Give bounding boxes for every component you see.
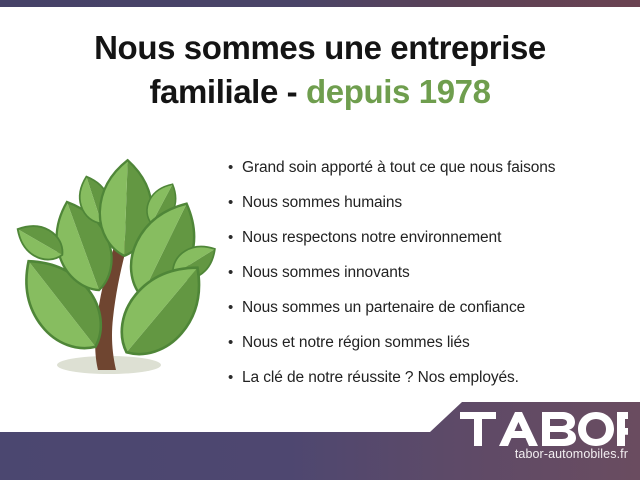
brand-website-label[interactable]: tabor-automobiles.fr — [460, 447, 628, 461]
bullet-marker-icon: • — [228, 220, 242, 255]
tree-illustration — [12, 152, 222, 388]
list-item: • Nous sommes humains — [228, 185, 628, 220]
value-list: • Grand soin apporté à tout ce que nous … — [228, 150, 628, 395]
list-item-label: Grand soin apporté à tout ce que nous fa… — [242, 150, 555, 185]
brand-logo[interactable]: tabor-automobiles.fr — [460, 412, 628, 461]
top-accent-bar — [0, 0, 640, 7]
brand-wordmark-tabor — [460, 412, 628, 446]
list-item: • La clé de notre réussite ? Nos employé… — [228, 360, 628, 395]
page-title-accent: depuis 1978 — [306, 73, 491, 110]
page-title-line1: Nous sommes une entreprise — [94, 29, 546, 66]
bullet-marker-icon: • — [228, 325, 242, 360]
list-item-label: La clé de notre réussite ? Nos employés. — [242, 360, 519, 395]
bullet-marker-icon: • — [228, 255, 242, 290]
list-item: • Nous sommes innovants — [228, 255, 628, 290]
page-title-line2-main: familiale - — [149, 73, 306, 110]
list-item-label: Nous sommes humains — [242, 185, 402, 220]
list-item-label: Nous respectons notre environnement — [242, 220, 501, 255]
list-item-label: Nous sommes un partenaire de confiance — [242, 290, 525, 325]
list-item: • Nous sommes un partenaire de confiance — [228, 290, 628, 325]
bullet-marker-icon: • — [228, 290, 242, 325]
slide-canvas: Nous sommes une entreprise familiale - d… — [0, 0, 640, 480]
bullet-marker-icon: • — [228, 185, 242, 220]
list-item-label: Nous et notre région sommes liés — [242, 325, 470, 360]
bullet-marker-icon: • — [228, 360, 242, 395]
list-item: • Grand soin apporté à tout ce que nous … — [228, 150, 628, 185]
list-item: • Nous respectons notre environnement — [228, 220, 628, 255]
list-item: • Nous et notre région sommes liés — [228, 325, 628, 360]
list-item-label: Nous sommes innovants — [242, 255, 410, 290]
page-title-line2: familiale - depuis 1978 — [0, 70, 640, 114]
page-title: Nous sommes une entreprise familiale - d… — [0, 26, 640, 114]
bullet-marker-icon: • — [228, 150, 242, 185]
